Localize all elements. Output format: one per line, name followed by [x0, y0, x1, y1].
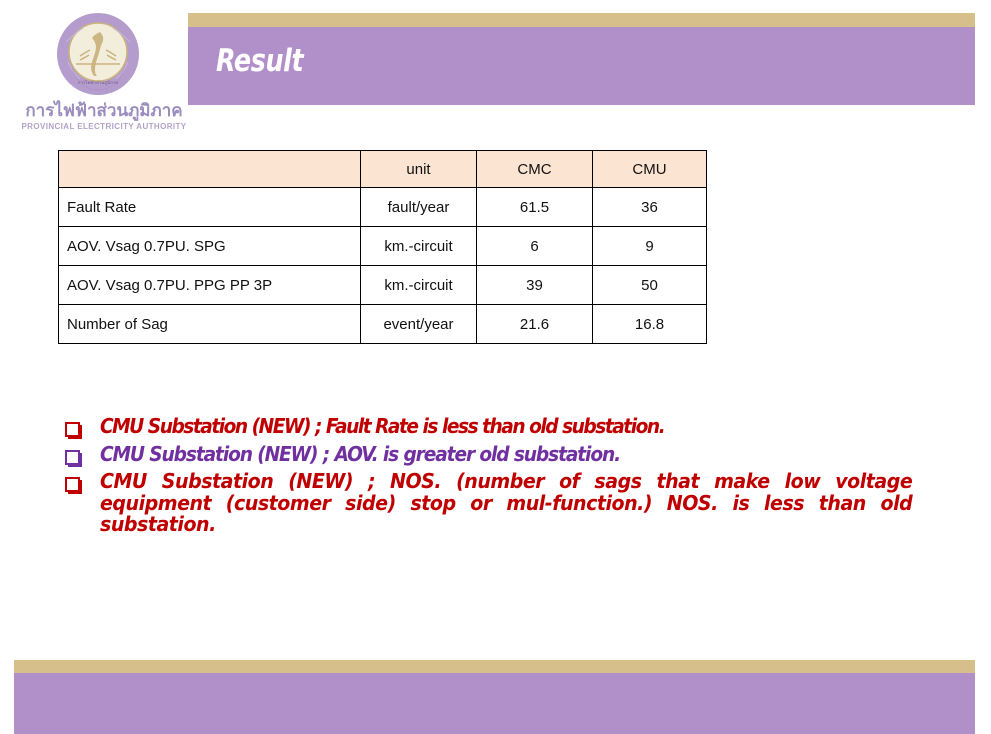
row-value-cmu: 16.8 [593, 305, 707, 344]
row-value-cmc: 21.6 [477, 305, 593, 344]
svg-text:การไฟฟ้าส่วนภูมิภาค: การไฟฟ้าส่วนภูมิภาค [78, 80, 119, 86]
slide-footer-band [14, 660, 975, 734]
pea-logo: การไฟฟ้าส่วนภูมิภาค การไฟฟ้าส่วนภูมิภาค … [18, 10, 190, 132]
row-unit: km.-circuit [361, 227, 477, 266]
table-row: AOV. Vsag 0.7PU. PPG PP 3P km.-circuit 3… [59, 266, 707, 305]
header-gold-stripe [188, 13, 975, 27]
row-label: AOV. Vsag 0.7PU. PPG PP 3P [59, 266, 361, 305]
table-row: Fault Rate fault/year 61.5 36 [59, 188, 707, 227]
row-value-cmc: 6 [477, 227, 593, 266]
row-value-cmu: 9 [593, 227, 707, 266]
footer-purple-area [14, 673, 975, 734]
logo-thai-name: การไฟฟ้าส่วนภูมิภาค [18, 102, 190, 121]
row-value-cmc: 39 [477, 266, 593, 305]
row-value-cmc: 61.5 [477, 188, 593, 227]
box-bullet-icon [65, 477, 80, 492]
row-label: AOV. Vsag 0.7PU. SPG [59, 227, 361, 266]
box-bullet-icon [65, 422, 80, 437]
slide-header-band: Result [188, 13, 975, 105]
result-table: unit CMC CMU Fault Rate fault/year 61.5 … [58, 150, 707, 344]
list-item: CMU Substation (NEW) ; AOV. is greater o… [60, 444, 950, 466]
row-unit: km.-circuit [361, 266, 477, 305]
row-label: Number of Sag [59, 305, 361, 344]
column-header-unit: unit [361, 151, 477, 188]
list-item-label: CMU Substation (NEW) ; NOS. (number of s… [100, 471, 912, 536]
list-item-label: CMU Substation (NEW) ; Fault Rate is les… [100, 416, 891, 438]
row-label: Fault Rate [59, 188, 361, 227]
header-purple-area [188, 27, 975, 105]
list-item: CMU Substation (NEW) ; NOS. (number of s… [60, 471, 950, 536]
row-value-cmu: 36 [593, 188, 707, 227]
row-unit: event/year [361, 305, 477, 344]
row-unit: fault/year [361, 188, 477, 227]
table-row: Number of Sag event/year 21.6 16.8 [59, 305, 707, 344]
table-row: AOV. Vsag 0.7PU. SPG km.-circuit 6 9 [59, 227, 707, 266]
column-header-cmc: CMC [477, 151, 593, 188]
table-header-row: unit CMC CMU [59, 151, 707, 188]
list-item-label: CMU Substation (NEW) ; AOV. is greater o… [100, 444, 891, 466]
column-header-blank [59, 151, 361, 188]
footer-gold-stripe [14, 660, 975, 673]
logo-english-name: PROVINCIAL ELECTRICITY AUTHORITY [18, 122, 190, 131]
column-header-cmu: CMU [593, 151, 707, 188]
pea-circular-emblem: การไฟฟ้าส่วนภูมิภาค [56, 12, 140, 96]
conclusion-bullet-list: CMU Substation (NEW) ; Fault Rate is les… [60, 416, 950, 542]
row-value-cmu: 50 [593, 266, 707, 305]
list-item: CMU Substation (NEW) ; Fault Rate is les… [60, 416, 950, 438]
page-title: Result [216, 43, 303, 79]
box-bullet-icon [65, 450, 80, 465]
